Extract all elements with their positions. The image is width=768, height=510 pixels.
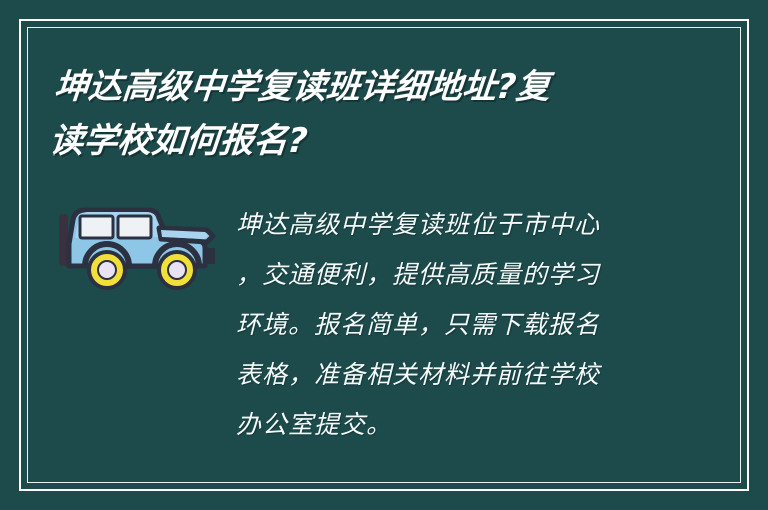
poster-canvas: 坤达高级中学复读班详细地址?复 读学校如何报名? [0,0,768,510]
body-line-4: 表格，准备相关材料并前往学校 [236,350,656,400]
page-title-line-1: 坤达高级中学复读班详细地址?复 [52,60,697,114]
page-title: 坤达高级中学复读班详细地址?复 读学校如何报名? [47,60,696,168]
body-line-5: 办公室提交。 [236,400,656,450]
page-title-line-2: 读学校如何报名? [47,114,692,168]
body-line-2: ，交通便利，提供高质量的学习 [236,250,656,300]
jeep-illustration [55,192,223,302]
body-line-3: 环境。报名简单，只需下载报名 [236,300,656,350]
body-paragraph: 坤达高级中学复读班位于市中心 ，交通便利，提供高质量的学习 环境。报名简单，只需… [236,200,656,450]
body-line-1: 坤达高级中学复读班位于市中心 [236,200,656,250]
